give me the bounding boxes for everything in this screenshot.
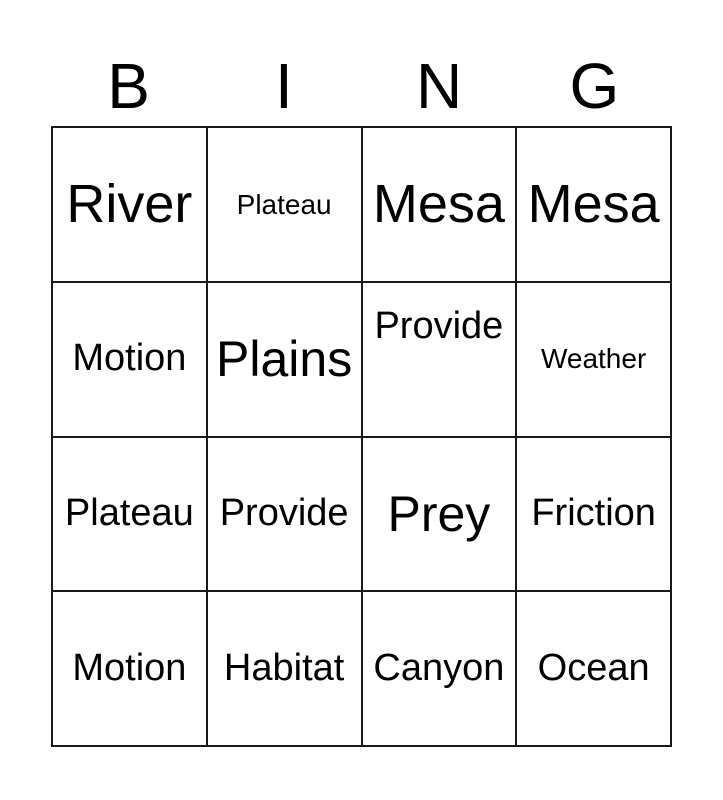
bingo-cell[interactable]: Motion [53,592,208,747]
bingo-cell-label: Plateau [237,190,332,219]
bingo-cell-label: Weather [541,344,646,373]
bingo-cell-label: Habitat [224,649,344,689]
bingo-cell-label: Prey [387,488,490,541]
bingo-cell-label: Friction [531,494,656,534]
bingo-cell[interactable]: Motion [53,283,208,438]
bingo-cell[interactable]: Plateau [208,128,363,283]
bingo-cell[interactable]: Mesa [517,128,672,283]
bingo-cell-label: Provide [220,494,349,534]
bingo-cell[interactable]: Canyon [363,592,518,747]
header-letter-b: B [51,46,206,118]
bingo-cell[interactable]: Mesa [363,128,518,283]
header-letter-n: N [362,46,517,118]
bingo-cell-label: Plateau [65,494,194,534]
bingo-cell-label: Mesa [528,176,660,233]
bingo-cell-label: Mesa [373,176,505,233]
bingo-cell-label: Motion [72,649,186,689]
bingo-cell[interactable]: Provide [208,438,363,593]
header-letter-i: I [206,46,361,118]
bingo-grid: RiverPlateauMesaMesaMotionPlainsProvideW… [51,126,672,747]
bingo-cell[interactable]: Plateau [53,438,208,593]
bingo-cell[interactable]: Friction [517,438,672,593]
header-letter-g: G [517,46,672,118]
bingo-cell-label: Canyon [373,649,504,689]
bingo-cell[interactable]: Provide [363,283,518,438]
bingo-cell-label: Provide [374,307,503,347]
bingo-cell[interactable]: Ocean [517,592,672,747]
bingo-cell[interactable]: Plains [208,283,363,438]
bingo-cell-label: Ocean [538,649,650,689]
bingo-header-row: B I N G [51,46,672,118]
bingo-cell[interactable]: River [53,128,208,283]
bingo-cell[interactable]: Habitat [208,592,363,747]
bingo-cell[interactable]: Prey [363,438,518,593]
bingo-cell-label: Plains [216,333,352,386]
bingo-card: B I N G RiverPlateauMesaMesaMotionPlains… [0,0,723,800]
bingo-cell-label: River [66,176,192,233]
bingo-cell[interactable]: Weather [517,283,672,438]
bingo-cell-label: Motion [72,339,186,379]
